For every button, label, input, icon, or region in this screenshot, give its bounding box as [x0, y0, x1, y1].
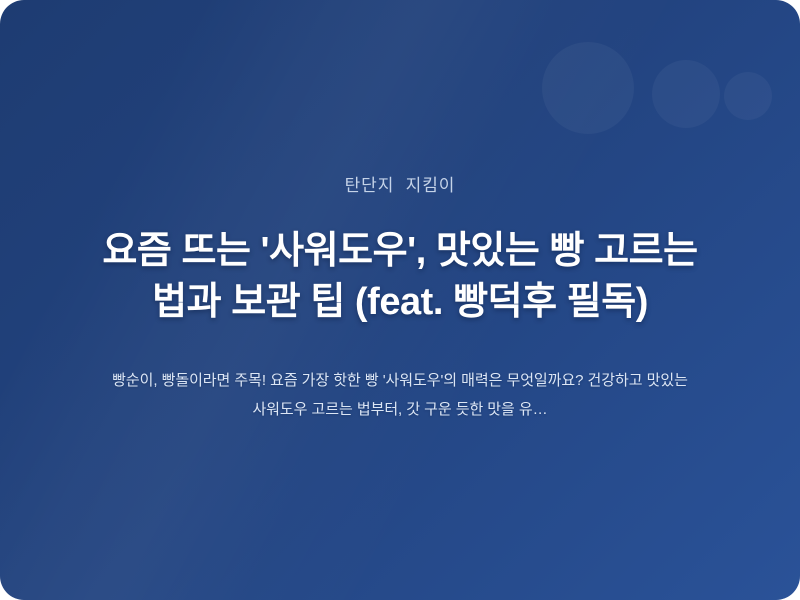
card-description: 빵순이, 빵돌이라면 주목! 요즘 가장 핫한 빵 '사워도우'의 매력은 무엇…	[100, 366, 700, 425]
decorative-circle-small	[724, 72, 772, 120]
brand-eyebrow-label: 탄단지 지킴이	[345, 176, 456, 196]
card-content-stack: 탄단지 지킴이 요즘 뜨는 '사워도우', 맛있는 빵 고르는 법과 보관 팁 …	[0, 176, 800, 425]
decorative-circle-large	[542, 42, 634, 134]
decorative-circle-medium	[652, 60, 720, 128]
page-title: 요즘 뜨는 '사워도우', 맛있는 빵 고르는 법과 보관 팁 (feat. 빵…	[90, 226, 710, 328]
thumbnail-card: 탄단지 지킴이 요즘 뜨는 '사워도우', 맛있는 빵 고르는 법과 보관 팁 …	[0, 0, 800, 600]
